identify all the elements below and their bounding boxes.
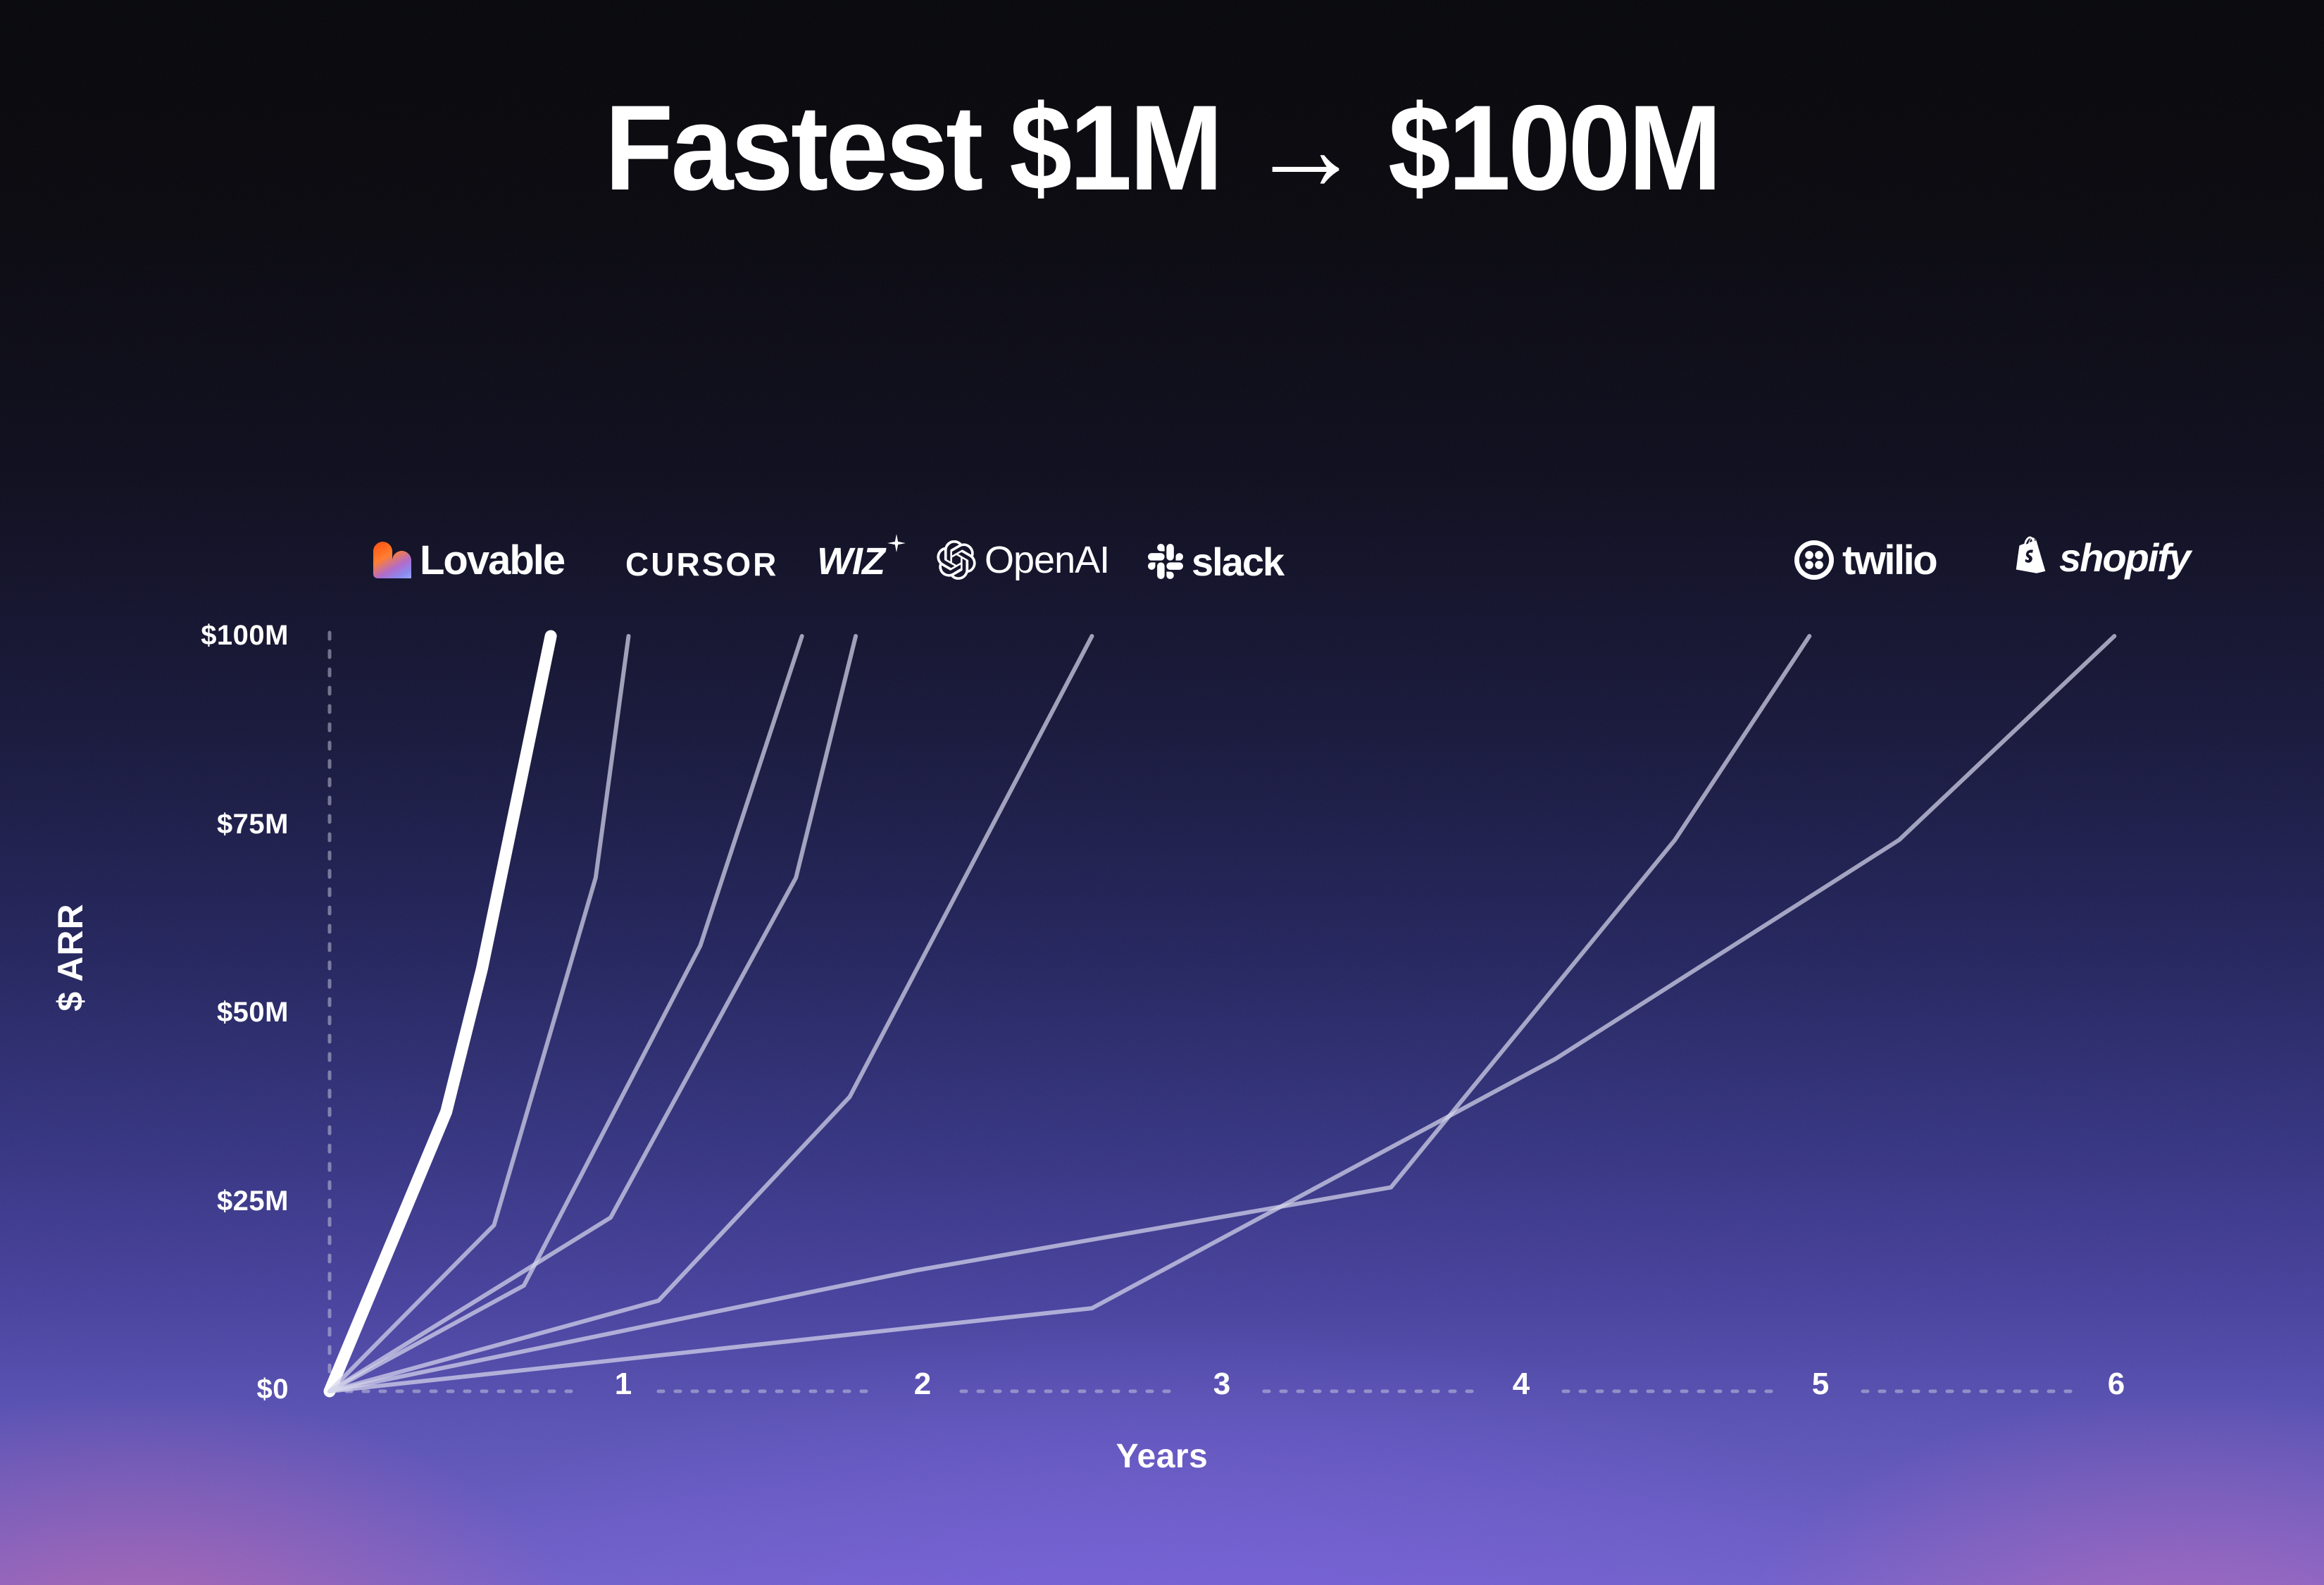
cursor-wordmark-icon: CURSOR: [625, 545, 778, 583]
y-tick-0: $0: [77, 1374, 289, 1405]
x-tick-3: 3: [1194, 1367, 1250, 1402]
y-tick-75m: $75M: [77, 809, 289, 840]
legend-label-openai: OpenAI: [985, 538, 1109, 582]
x-tick-6: 6: [2088, 1367, 2144, 1402]
legend-label-slack: slack: [1192, 539, 1283, 585]
legend-item-openai[interactable]: OpenAI: [937, 535, 1109, 585]
legend-item-slack[interactable]: slack: [1148, 537, 1283, 586]
y-tick-100m: $100M: [77, 620, 289, 652]
x-tick-4: 4: [1493, 1367, 1549, 1402]
series-line-slack: [330, 636, 1092, 1391]
legend-item-cursor[interactable]: CURSOR: [625, 540, 778, 589]
wiz-sparkle-icon: [887, 534, 906, 552]
axis-lines: [330, 633, 2074, 1391]
y-tick-50m: $50M: [77, 997, 289, 1028]
x-tick-1: 1: [595, 1367, 651, 1402]
series-line-openai: [330, 636, 856, 1391]
x-axis-title: Years: [0, 1437, 2324, 1476]
series-line-twilio: [330, 636, 1809, 1391]
legend-item-twilio[interactable]: twilio: [1794, 535, 1936, 585]
legend-label-twilio: twilio: [1842, 537, 1936, 584]
legend-item-wiz[interactable]: WIZ: [817, 537, 906, 586]
series-line-cursor: [330, 636, 629, 1391]
series-line-shopify: [330, 636, 2114, 1391]
x-tick-5: 5: [1792, 1367, 1849, 1402]
wiz-wordmark-icon: WIZ: [817, 540, 885, 583]
series-line-wiz: [330, 636, 802, 1391]
legend-label-lovable: Lovable: [420, 537, 564, 584]
page-title: Fastest $1M → $100M: [82, 85, 2243, 212]
slack-hash-icon: [1148, 544, 1183, 579]
legend-item-lovable[interactable]: Lovable: [373, 535, 564, 585]
series-lines: [330, 636, 2114, 1391]
background-grain-texture: [0, 0, 2324, 1585]
series-line-lovable: [330, 636, 551, 1391]
shopify-bag-icon: [2013, 535, 2051, 579]
chart-canvas: Fastest $1M → $100M Lovable CURSOR WIZ O…: [0, 0, 2324, 1585]
lovable-heart-icon: [373, 542, 411, 578]
twilio-dots-icon: [1794, 540, 1834, 580]
y-axis-title: $ ARR: [50, 838, 91, 1077]
x-tick-2: 2: [894, 1367, 951, 1402]
legend-item-shopify[interactable]: shopify: [2013, 533, 2189, 582]
legend-label-shopify: shopify: [2059, 535, 2189, 580]
openai-knot-icon: [937, 540, 976, 580]
chart-plot-area: [0, 0, 2324, 1585]
y-tick-25m: $25M: [77, 1186, 289, 1217]
legend: Lovable CURSOR WIZ OpenAI: [0, 530, 2324, 600]
